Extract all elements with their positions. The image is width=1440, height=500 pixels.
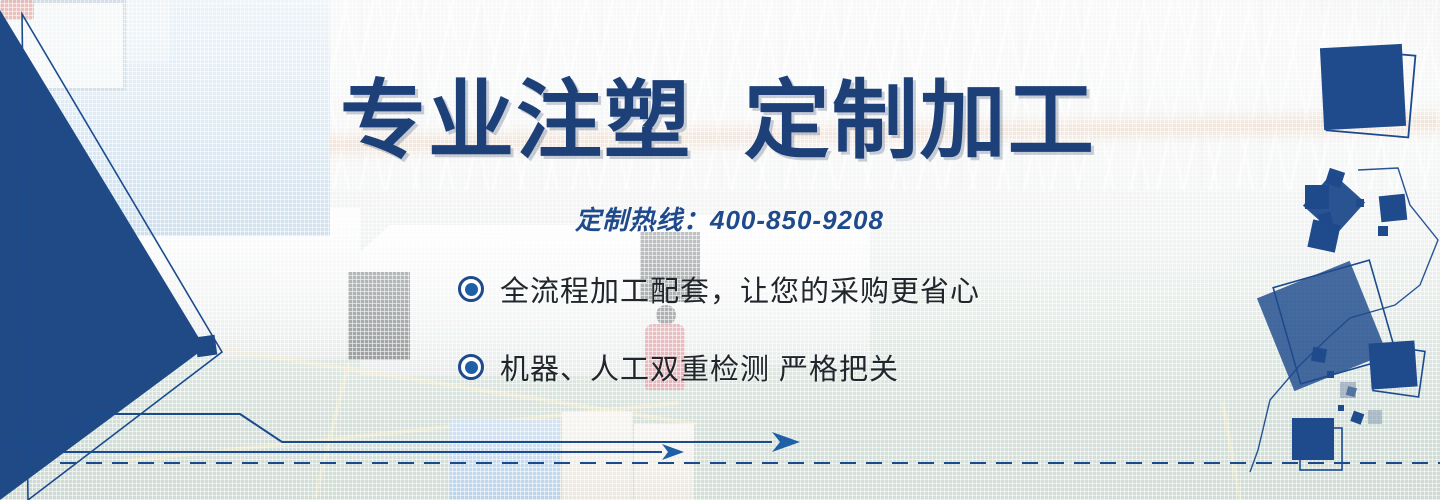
list-item-label: 机器、人工双重检测 严格把关 — [500, 346, 899, 388]
list-item: 机器、人工双重检测 严格把关 — [458, 346, 980, 388]
feature-list: 全流程加工配套，让您的采购更省心 机器、人工双重检测 严格把关 — [458, 268, 980, 424]
list-item: 全流程加工配套，让您的采购更省心 — [458, 268, 980, 310]
square-ghost-b — [1368, 410, 1382, 424]
ring-dot-icon — [458, 354, 484, 380]
square-solid-tiny-c — [1327, 371, 1334, 378]
square-solid-tiny-f — [1350, 411, 1364, 425]
straight-arrow-head — [662, 444, 684, 460]
ring-dot-icon — [458, 276, 484, 302]
square-solid-right-low — [1368, 340, 1417, 389]
square-solid-bottom — [1292, 418, 1334, 460]
square-solid-tiny-a — [1356, 199, 1364, 207]
right-square-cluster — [1257, 44, 1425, 470]
square-solid-tiny-b — [1378, 226, 1388, 236]
square-ghost-a — [1340, 382, 1356, 398]
square-solid-small-c — [1311, 347, 1327, 363]
square-solid-large-top — [1320, 44, 1406, 130]
headline-title: 专业注塑 定制加工 — [340, 78, 1140, 164]
promo-banner: 专业注塑 定制加工 定制热线：400-850-9208 全流程加工配套，让您的采… — [0, 0, 1440, 500]
list-item-label: 全流程加工配套，让您的采购更省心 — [500, 268, 980, 310]
hotline-text: 定制热线：400-850-9208 — [575, 200, 884, 237]
square-solid-medium-c — [1379, 194, 1408, 223]
left-wedge-shape — [0, 10, 205, 500]
stepped-arrow-head — [772, 432, 800, 452]
square-solid-large-mid — [1257, 261, 1387, 391]
square-solid-tiny-e — [1338, 405, 1344, 411]
wedge-corner-square — [195, 335, 218, 358]
